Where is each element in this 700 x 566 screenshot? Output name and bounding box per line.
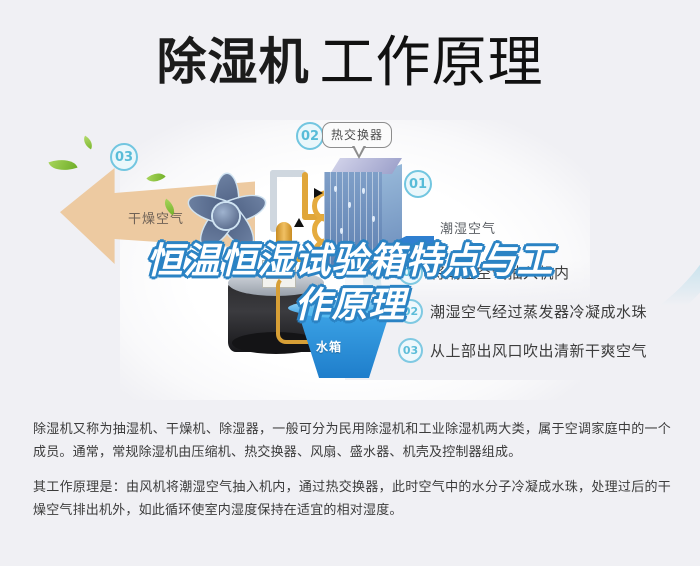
leaf-icon xyxy=(48,154,77,175)
fan-hub xyxy=(213,203,239,229)
accumulator-cylinder xyxy=(276,222,292,256)
page-title-primary: 除湿机 xyxy=(156,37,309,87)
step-badge: 01 xyxy=(398,260,423,285)
water-tank-inner xyxy=(300,306,386,318)
fan-illustration xyxy=(178,168,274,264)
suction-pipe xyxy=(270,170,277,232)
page-title-secondary: 工作原理 xyxy=(319,35,543,90)
condensate-droplet xyxy=(372,216,375,222)
condensate-droplet xyxy=(334,186,337,192)
step-text: 潮湿空气经过蒸发器冷凝成水珠 xyxy=(430,301,647,322)
water-tank-label: 水箱 xyxy=(316,338,342,355)
evaporator-side xyxy=(380,164,402,272)
diagram-badge-03: 03 xyxy=(110,143,138,171)
condensate-droplet xyxy=(348,202,351,208)
flow-arrow-up-icon xyxy=(294,218,304,227)
dry-air-label: 干燥空气 xyxy=(128,208,184,227)
evaporator-fins xyxy=(324,172,382,272)
process-step: 02 潮湿空气经过蒸发器冷凝成水珠 xyxy=(398,299,698,324)
step-text: 将潮湿空气抽入机内 xyxy=(430,262,570,283)
process-step-list: 01 将潮湿空气抽入机内 02 潮湿空气经过蒸发器冷凝成水珠 03 从上部出风口… xyxy=(398,260,698,377)
condensate-droplet xyxy=(362,188,365,194)
diagram-badge-02: 02 xyxy=(296,122,324,150)
evaporator-block xyxy=(330,158,392,276)
callout-pointer-icon xyxy=(352,146,366,159)
article-body: 除湿机又称为抽湿机、干燥机、除湿器，一般可分为民用除湿机和工业除湿机两大类，属于… xyxy=(33,418,671,534)
step-badge: 03 xyxy=(398,338,423,363)
leaf-icon xyxy=(81,136,96,150)
step-badge: 02 xyxy=(398,299,423,324)
body-paragraph-1: 除湿机又称为抽湿机、干燥机、除湿器，一般可分为民用除湿机和工业除湿机两大类，属于… xyxy=(33,418,671,464)
copper-pipe xyxy=(302,172,308,218)
condensate-droplet xyxy=(340,228,343,234)
process-step: 01 将潮湿空气抽入机内 xyxy=(398,260,698,285)
moist-air-label: 潮湿空气 xyxy=(440,218,496,237)
diagram-badge-01: 01 xyxy=(404,170,432,198)
suction-pipe-top xyxy=(270,170,306,177)
body-paragraph-2: 其工作原理是：由风机将潮湿空气抽入机内，通过热交换器，此时空气中的水分子冷凝成水… xyxy=(33,476,671,522)
condensate-droplet xyxy=(358,244,361,250)
flow-arrow-right-icon xyxy=(314,188,323,198)
page-root: 除湿机 工作原理 干燥空气 xyxy=(0,0,700,566)
process-step: 03 从上部出风口吹出清新干爽空气 xyxy=(398,338,698,363)
step-text: 从上部出风口吹出清新干爽空气 xyxy=(430,340,647,361)
